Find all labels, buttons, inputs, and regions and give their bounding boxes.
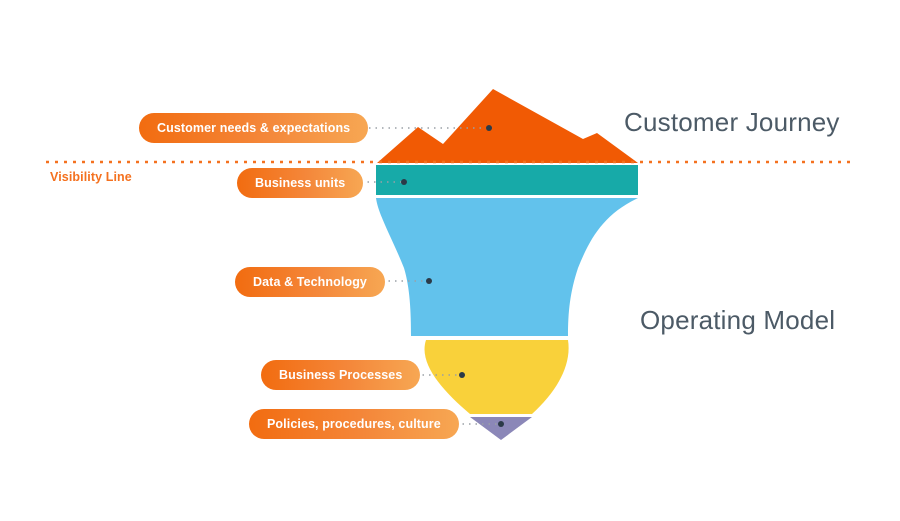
section-title-customer-journey: Customer Journey — [624, 107, 840, 138]
iceberg-layer-policies — [470, 417, 532, 440]
iceberg-layer-business-units — [376, 165, 638, 195]
iceberg-diagram: Customer Journey Operating Model Visibil… — [0, 0, 900, 521]
callout-pill-policies[interactable]: Policies, procedures, culture — [249, 409, 459, 439]
iceberg-layer-customer-needs — [377, 89, 638, 163]
section-title-operating-model: Operating Model — [640, 305, 835, 336]
iceberg-graphic — [0, 0, 900, 521]
iceberg-layer-data-technology — [376, 198, 638, 336]
callout-pill-business-processes[interactable]: Business Processes — [261, 360, 420, 390]
callout-pill-business-units[interactable]: Business units — [237, 168, 363, 198]
callout-pill-customer-needs[interactable]: Customer needs & expectations — [139, 113, 368, 143]
iceberg-layer-business-processes — [425, 340, 569, 414]
callout-pill-data-technology[interactable]: Data & Technology — [235, 267, 385, 297]
visibility-line-label: Visibility Line — [50, 170, 132, 184]
